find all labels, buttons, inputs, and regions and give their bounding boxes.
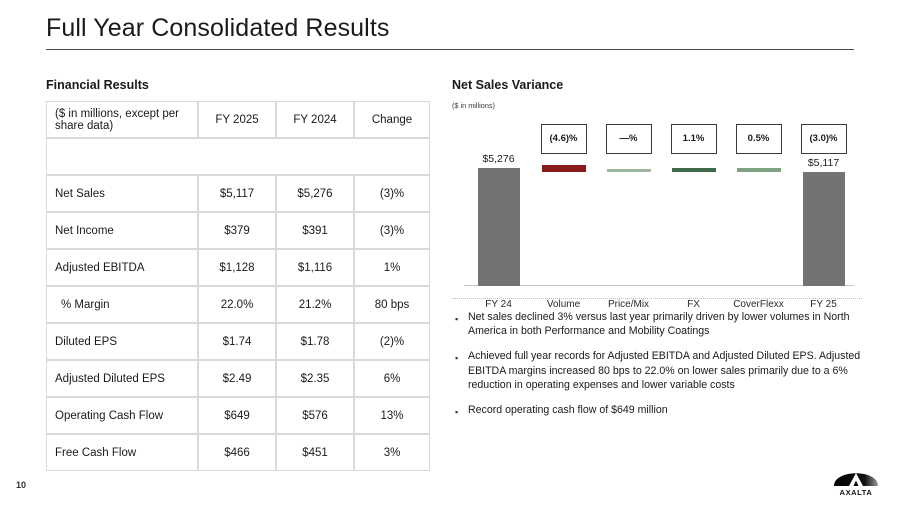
page-number: 10 bbox=[16, 480, 26, 490]
row-change: 80 bps bbox=[354, 286, 430, 323]
variance-badge: —% bbox=[606, 124, 652, 154]
row-change: 1% bbox=[354, 249, 430, 286]
row-fy2024: $391 bbox=[276, 212, 354, 249]
units-note: ($ in millions) bbox=[452, 101, 862, 110]
net-sales-variance-heading: Net Sales Variance bbox=[452, 78, 862, 92]
row-fy2024: $451 bbox=[276, 434, 354, 471]
financial-results-heading: Financial Results bbox=[46, 78, 430, 92]
axalta-logo: AXALTA bbox=[828, 458, 884, 498]
row-change: 6% bbox=[354, 360, 430, 397]
row-label: Operating Cash Flow bbox=[46, 397, 198, 434]
variance-badge: 0.5% bbox=[736, 124, 782, 154]
row-label: Diluted EPS bbox=[46, 323, 198, 360]
row-fy2025: 22.0% bbox=[198, 286, 276, 323]
chart-value-label: $5,276 bbox=[482, 153, 514, 165]
row-fy2025: $1.74 bbox=[198, 323, 276, 360]
row-fy2025: $649 bbox=[198, 397, 276, 434]
column-header-fy2024: FY 2024 bbox=[276, 101, 354, 138]
row-fy2025: $5,117 bbox=[198, 175, 276, 212]
column-header-fy2025: FY 2025 bbox=[198, 101, 276, 138]
table-row: Net Income $379 $391 (3)% bbox=[46, 212, 430, 249]
chart-value-label: $5,117 bbox=[808, 157, 839, 169]
row-fy2024: $576 bbox=[276, 397, 354, 434]
row-fy2024: $2.35 bbox=[276, 360, 354, 397]
table-row: Adjusted Diluted EPS $2.49 $2.35 6% bbox=[46, 360, 430, 397]
bullet-text: Record operating cash flow of $649 milli… bbox=[468, 403, 668, 420]
axalta-logo-wordmark: AXALTA bbox=[840, 488, 873, 497]
row-fy2025: $379 bbox=[198, 212, 276, 249]
table-row: % Margin 22.0% 21.2% 80 bps bbox=[46, 286, 430, 323]
bullet-square-icon: ▪ bbox=[455, 349, 468, 392]
row-label: Free Cash Flow bbox=[46, 434, 198, 471]
chart-bar-price-mix bbox=[607, 169, 651, 172]
table-row: Operating Cash Flow $649 $576 13% bbox=[46, 397, 430, 434]
chart-category-label: FY 25 bbox=[793, 299, 855, 310]
page-title: Full Year Consolidated Results bbox=[46, 14, 389, 43]
bullet-square-icon: ▪ bbox=[455, 403, 468, 420]
row-change: 3% bbox=[354, 434, 430, 471]
row-fy2025: $2.49 bbox=[198, 360, 276, 397]
variance-badge: 1.1% bbox=[671, 124, 717, 154]
table-header-row: ($ in millions, except per share data) F… bbox=[46, 101, 430, 138]
chart-bar-fx bbox=[672, 168, 716, 172]
chart-column: $5,117(3.0)%FY 25 bbox=[793, 114, 855, 312]
chart-category-label: CoverFlexx bbox=[728, 299, 790, 310]
chart-column: (4.6)%Volume bbox=[533, 114, 595, 312]
bullet-square-icon: ▪ bbox=[455, 310, 468, 338]
bullet-text: Achieved full year records for Adjusted … bbox=[468, 349, 867, 392]
column-header-change: Change bbox=[354, 101, 430, 138]
row-label: Adjusted EBITDA bbox=[46, 249, 198, 286]
variance-badge: (3.0)% bbox=[801, 124, 847, 154]
chart-bar-volume bbox=[542, 165, 586, 172]
row-fy2024: $5,276 bbox=[276, 175, 354, 212]
list-item: ▪ Achieved full year records for Adjuste… bbox=[455, 349, 867, 392]
net-sales-variance-chart: $5,276FY 24(4.6)%Volume—%Price/Mix1.1%FX… bbox=[452, 114, 862, 312]
row-label: Adjusted Diluted EPS bbox=[46, 360, 198, 397]
net-sales-variance-panel: Net Sales Variance ($ in millions) $5,27… bbox=[452, 78, 862, 312]
row-change: (3)% bbox=[354, 175, 430, 212]
row-label: Net Income bbox=[46, 212, 198, 249]
column-header-units: ($ in millions, except per share data) bbox=[46, 101, 198, 138]
chart-category-label: FX bbox=[663, 299, 725, 310]
row-change: (2)% bbox=[354, 323, 430, 360]
chart-bar-coverflexx bbox=[737, 168, 781, 172]
row-label: Net Sales bbox=[46, 175, 198, 212]
chart-column: —%Price/Mix bbox=[598, 114, 660, 312]
row-fy2024: 21.2% bbox=[276, 286, 354, 323]
bullet-text: Net sales declined 3% versus last year p… bbox=[468, 310, 867, 338]
table-row: Free Cash Flow $466 $451 3% bbox=[46, 434, 430, 471]
chart-bar-fy-24 bbox=[478, 168, 520, 286]
chart-bar-fy-25 bbox=[803, 172, 845, 286]
table-spacer bbox=[46, 138, 430, 175]
chart-column: $5,276FY 24 bbox=[468, 114, 530, 312]
financial-results-panel: Financial Results ($ in millions, except… bbox=[46, 78, 430, 471]
financial-results-table: ($ in millions, except per share data) F… bbox=[46, 101, 430, 471]
row-fy2024: $1.78 bbox=[276, 323, 354, 360]
row-fy2025: $466 bbox=[198, 434, 276, 471]
list-item: ▪ Net sales declined 3% versus last year… bbox=[455, 310, 867, 338]
commentary-list: ▪ Net sales declined 3% versus last year… bbox=[455, 310, 867, 431]
section-divider bbox=[452, 298, 862, 299]
table-row: Net Sales $5,117 $5,276 (3)% bbox=[46, 175, 430, 212]
table-row: Adjusted EBITDA $1,128 $1,116 1% bbox=[46, 249, 430, 286]
chart-column: 0.5%CoverFlexx bbox=[728, 114, 790, 312]
axalta-logo-icon: AXALTA bbox=[828, 458, 884, 498]
row-change: 13% bbox=[354, 397, 430, 434]
title-divider bbox=[46, 49, 854, 50]
variance-badge: (4.6)% bbox=[541, 124, 587, 154]
list-item: ▪ Record operating cash flow of $649 mil… bbox=[455, 403, 867, 420]
row-change: (3)% bbox=[354, 212, 430, 249]
row-label: % Margin bbox=[46, 286, 198, 323]
chart-category-label: FY 24 bbox=[468, 299, 530, 310]
table-row: Diluted EPS $1.74 $1.78 (2)% bbox=[46, 323, 430, 360]
row-fy2024: $1,116 bbox=[276, 249, 354, 286]
row-fy2025: $1,128 bbox=[198, 249, 276, 286]
chart-column: 1.1%FX bbox=[663, 114, 725, 312]
chart-category-label: Volume bbox=[533, 299, 595, 310]
chart-category-label: Price/Mix bbox=[598, 299, 660, 310]
